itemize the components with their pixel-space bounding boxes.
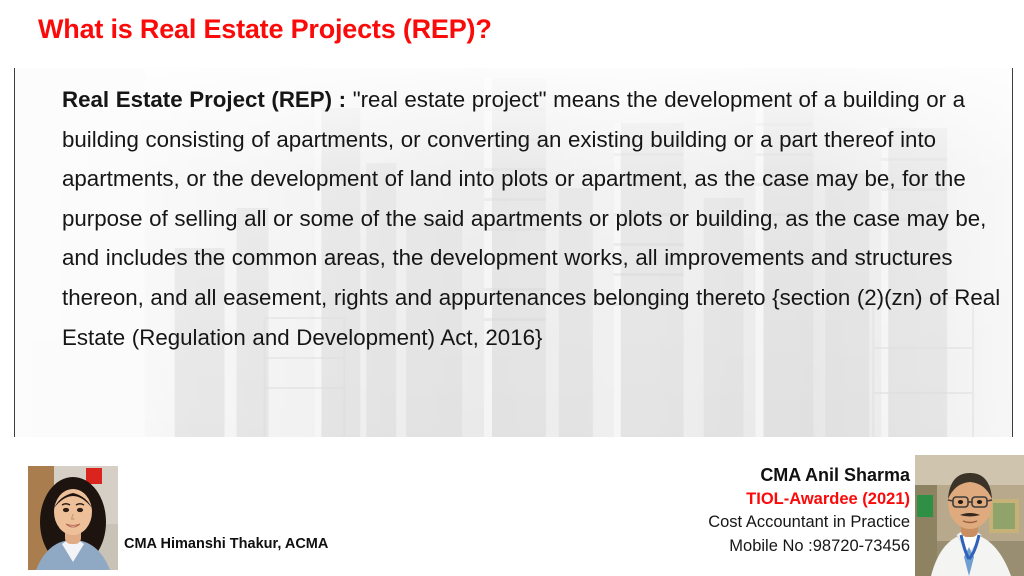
credit-right-mobile: Mobile No :98720-73456 (708, 535, 910, 559)
credit-right-designation: Cost Accountant in Practice (708, 511, 910, 535)
definition-content-box: Real Estate Project (REP) : "real estate… (14, 68, 1013, 437)
credit-right-award: TIOL-Awardee (2021) (708, 488, 910, 512)
definition-body-text: "real estate project" means the developm… (62, 87, 1000, 350)
credit-right-block: CMA Anil Sharma TIOL-Awardee (2021) Cost… (708, 464, 910, 558)
definition-paragraph: Real Estate Project (REP) : "real estate… (62, 80, 1002, 357)
definition-lead-label: Real Estate Project (REP) : (62, 87, 346, 112)
credit-right-name: CMA Anil Sharma (708, 464, 910, 488)
avatar-anil-sharma (915, 455, 1024, 576)
credit-left-name: CMA Himanshi Thakur, ACMA (124, 536, 328, 552)
page-title: What is Real Estate Projects (REP)? (38, 14, 492, 45)
avatar-himanshi-thakur (28, 466, 118, 570)
